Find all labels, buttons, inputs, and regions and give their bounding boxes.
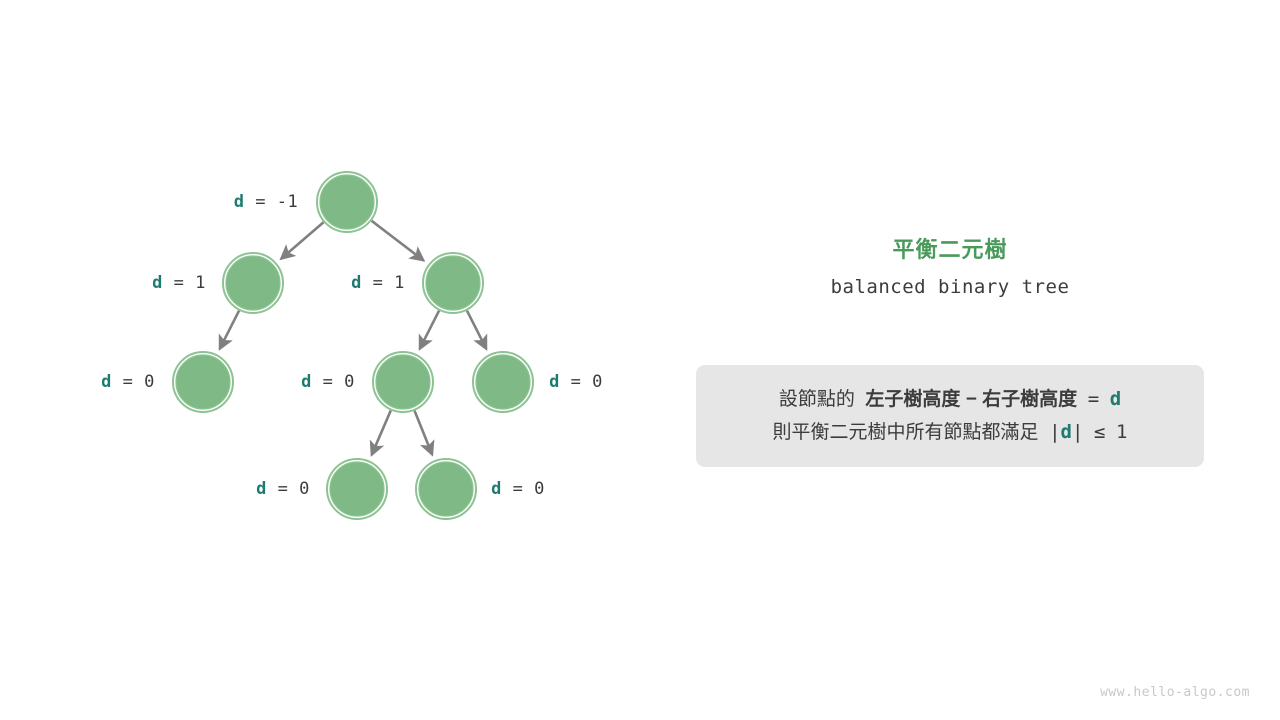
bound-value: 1 [1116, 421, 1127, 443]
tree-nodes [173, 172, 533, 519]
node-balance-label: d = 0 [256, 479, 310, 499]
balance-factor-variable: d [301, 372, 312, 392]
node-circle [320, 175, 374, 229]
node-balance-label: d = 0 [549, 372, 603, 392]
balance-factor-variable: d [234, 192, 245, 212]
definition-prefix: 設節點的 [779, 389, 855, 410]
balance-factor-variable: d [152, 273, 163, 293]
tree-edge [415, 411, 433, 455]
abs-bar-close: | [1072, 421, 1083, 443]
balance-factor-value: = 0 [112, 372, 155, 392]
page-subtitle: balanced binary tree [696, 276, 1204, 298]
balance-factor-variable: d [256, 479, 267, 499]
right-subtree-height-term: 右子樹高度 [982, 389, 1077, 410]
tree-edge [372, 221, 424, 261]
node-balance-label: d = 0 [101, 372, 155, 392]
balance-factor-value: = 1 [163, 273, 206, 293]
node-circle [419, 462, 473, 516]
tree-edge [220, 311, 239, 349]
tree-edge [467, 311, 486, 349]
balance-factor-variable: d [101, 372, 112, 392]
equals-operator: = [1088, 388, 1099, 410]
tree-node [423, 253, 483, 313]
tree-edge [281, 222, 323, 259]
tree-diagram: d = -1d = 1d = 1d = 0d = 0d = 0d = 0d = … [0, 0, 660, 720]
balance-factor-variable: d [491, 479, 502, 499]
tree-edge [372, 410, 391, 455]
tree-node [473, 352, 533, 412]
node-balance-label: d = 0 [491, 479, 545, 499]
left-subtree-height-term: 左子樹高度 [865, 389, 960, 410]
node-circle [476, 355, 530, 409]
tree-node [327, 459, 387, 519]
node-circle [376, 355, 430, 409]
tree-edges [220, 221, 487, 455]
node-circle [176, 355, 230, 409]
node-circle [330, 462, 384, 516]
balance-factor-value: = 0 [560, 372, 603, 392]
tree-node [173, 352, 233, 412]
node-circle [226, 256, 280, 310]
balance-factor-value: = -1 [245, 192, 299, 212]
condition-prefix: 則平衡二元樹中所有節點都滿足 [773, 422, 1039, 443]
abs-bar-open: | [1049, 421, 1060, 443]
tree-node [223, 253, 283, 313]
balance-factor-value: = 0 [312, 372, 355, 392]
definition-line-2: 則平衡二元樹中所有節點都滿足 |d| ≤ 1 [696, 416, 1204, 449]
less-equal-operator: ≤ [1094, 421, 1105, 443]
node-circle [426, 256, 480, 310]
node-balance-label: d = 1 [351, 273, 405, 293]
page-title: 平衡二元樹 [696, 232, 1204, 264]
site-watermark: www.hello-algo.com [1100, 685, 1250, 700]
node-balance-label: d = 0 [301, 372, 355, 392]
balance-factor-value: = 0 [267, 479, 310, 499]
balance-factor-value: = 0 [502, 479, 545, 499]
node-balance-label: d = -1 [234, 192, 298, 212]
balance-factor-variable: d [351, 273, 362, 293]
node-balance-label: d = 1 [152, 273, 206, 293]
d-variable-abs: d [1061, 421, 1072, 443]
tree-graphics [0, 0, 660, 720]
d-variable: d [1110, 388, 1121, 410]
definition-line-1: 設節點的 左子樹高度 − 右子樹高度 = d [696, 383, 1204, 416]
balance-factor-variable: d [549, 372, 560, 392]
balance-factor-value: = 1 [362, 273, 405, 293]
info-panel: 平衡二元樹 balanced binary tree 設節點的 左子樹高度 − … [696, 0, 1204, 720]
definition-callout: 設節點的 左子樹高度 − 右子樹高度 = d 則平衡二元樹中所有節點都滿足 |d… [696, 365, 1204, 467]
tree-edge [420, 311, 439, 349]
minus-operator: − [966, 389, 977, 410]
tree-node [317, 172, 377, 232]
tree-node [416, 459, 476, 519]
tree-node [373, 352, 433, 412]
